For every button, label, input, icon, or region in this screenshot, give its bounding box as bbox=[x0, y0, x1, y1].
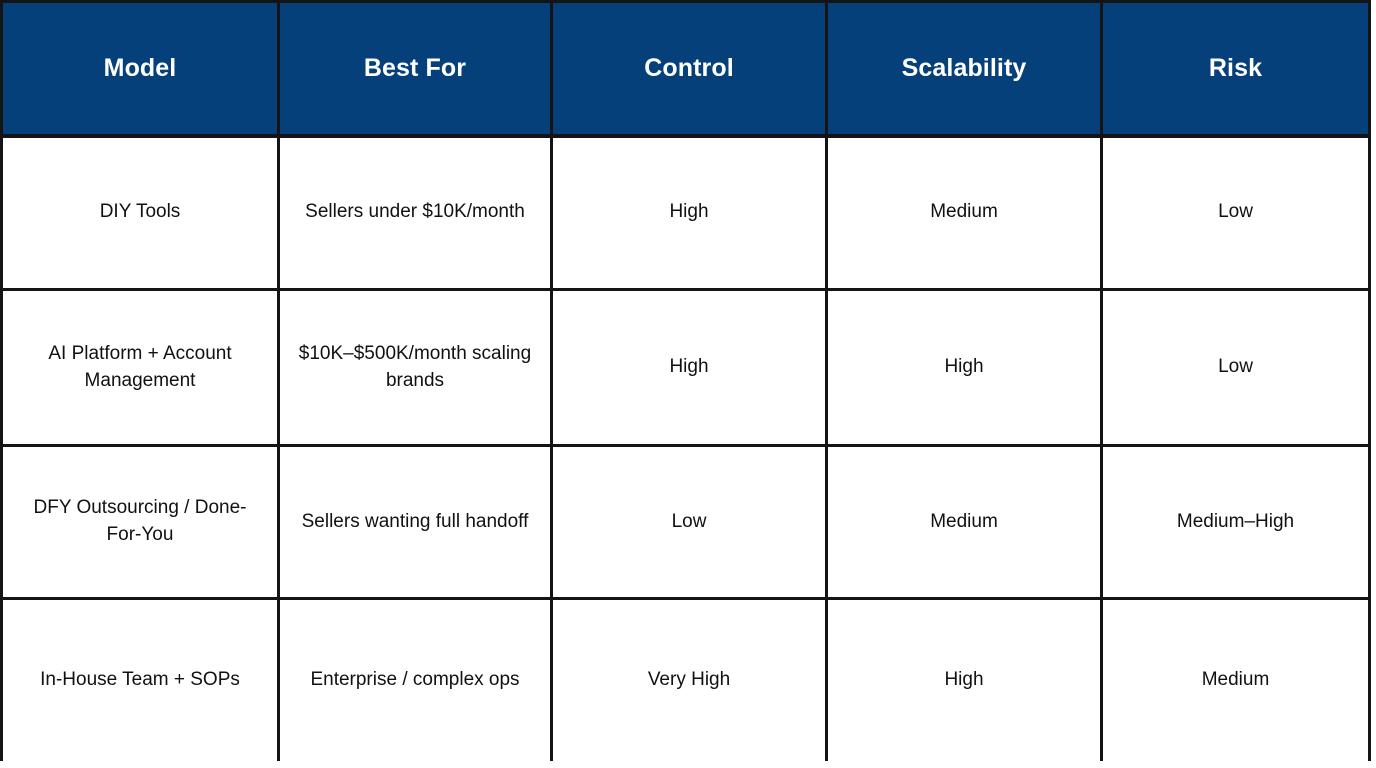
cell-risk-text: Low bbox=[1119, 354, 1352, 381]
cell-risk: Low bbox=[1102, 290, 1370, 446]
cell-best-for-text: Enterprise / complex ops bbox=[296, 667, 534, 694]
cell-control: Low bbox=[552, 446, 827, 599]
table-header: Model Best For Control Scalability Risk bbox=[2, 2, 1370, 136]
cell-control: High bbox=[552, 136, 827, 290]
cell-scalability: High bbox=[827, 290, 1102, 446]
cell-model: DFY Outsourcing / Done-For-You bbox=[2, 446, 279, 599]
cell-model: AI Platform + Account Management bbox=[2, 290, 279, 446]
cell-scalability-text: Medium bbox=[844, 199, 1084, 226]
cell-scalability: High bbox=[827, 599, 1102, 761]
column-header-best-for: Best For bbox=[279, 2, 552, 136]
comparison-table: Model Best For Control Scalability Risk … bbox=[0, 0, 1371, 761]
table-row: DIY Tools Sellers under $10K/month High … bbox=[2, 136, 1370, 290]
table-row: DFY Outsourcing / Done-For-You Sellers w… bbox=[2, 446, 1370, 599]
cell-model-text: DIY Tools bbox=[19, 199, 261, 226]
cell-scalability: Medium bbox=[827, 446, 1102, 599]
cell-best-for: Enterprise / complex ops bbox=[279, 599, 552, 761]
cell-best-for: Sellers wanting full handoff bbox=[279, 446, 552, 599]
cell-control: High bbox=[552, 290, 827, 446]
column-header-model: Model bbox=[2, 2, 279, 136]
cell-risk-text: Low bbox=[1119, 199, 1352, 226]
cell-scalability-text: High bbox=[844, 354, 1084, 381]
cell-control-text: Low bbox=[569, 509, 809, 536]
table-row: AI Platform + Account Management $10K–$5… bbox=[2, 290, 1370, 446]
column-header-scalability: Scalability bbox=[827, 2, 1102, 136]
table-row: In-House Team + SOPs Enterprise / comple… bbox=[2, 599, 1370, 761]
table-header-row: Model Best For Control Scalability Risk bbox=[2, 2, 1370, 136]
cell-model: In-House Team + SOPs bbox=[2, 599, 279, 761]
cell-risk: Medium bbox=[1102, 599, 1370, 761]
table-body: DIY Tools Sellers under $10K/month High … bbox=[2, 136, 1370, 761]
cell-model-text: In-House Team + SOPs bbox=[19, 667, 261, 694]
cell-risk-text: Medium bbox=[1119, 667, 1352, 694]
cell-risk-text: Medium–High bbox=[1119, 509, 1352, 536]
cell-model-text: DFY Outsourcing / Done-For-You bbox=[19, 495, 261, 549]
cell-control: Very High bbox=[552, 599, 827, 761]
comparison-table-container: Model Best For Control Scalability Risk … bbox=[0, 0, 1376, 768]
cell-model-text: AI Platform + Account Management bbox=[19, 341, 261, 395]
cell-model: DIY Tools bbox=[2, 136, 279, 290]
cell-control-text: Very High bbox=[569, 667, 809, 694]
cell-scalability-text: High bbox=[844, 667, 1084, 694]
column-header-control: Control bbox=[552, 2, 827, 136]
cell-risk: Low bbox=[1102, 136, 1370, 290]
cell-best-for-text: Sellers wanting full handoff bbox=[296, 509, 534, 536]
cell-best-for-text: Sellers under $10K/month bbox=[296, 199, 534, 226]
cell-scalability: Medium bbox=[827, 136, 1102, 290]
column-header-risk: Risk bbox=[1102, 2, 1370, 136]
cell-best-for-text: $10K–$500K/month scaling brands bbox=[296, 341, 534, 395]
cell-risk: Medium–High bbox=[1102, 446, 1370, 599]
cell-best-for: $10K–$500K/month scaling brands bbox=[279, 290, 552, 446]
cell-best-for: Sellers under $10K/month bbox=[279, 136, 552, 290]
cell-scalability-text: Medium bbox=[844, 509, 1084, 536]
cell-control-text: High bbox=[569, 199, 809, 226]
cell-control-text: High bbox=[569, 354, 809, 381]
